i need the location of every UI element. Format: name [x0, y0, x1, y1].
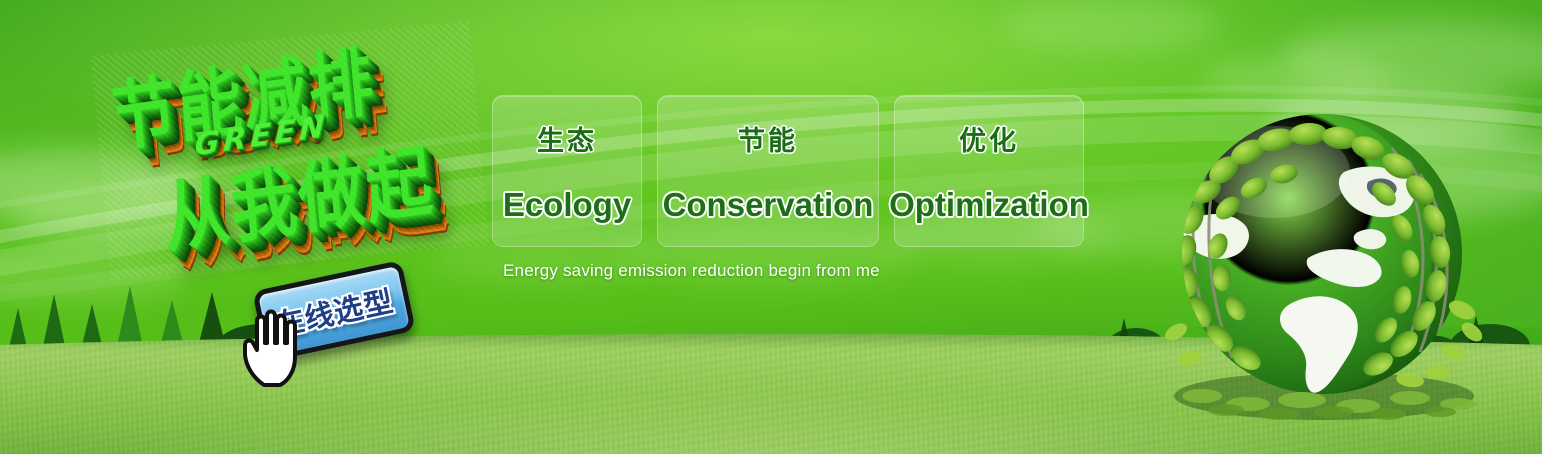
feature-card-cn-label: 节能: [738, 119, 798, 158]
feature-card-list: 生态 Ecology 节能 Conservation 优化 Optimizati…: [492, 95, 1084, 247]
feature-card-optimization[interactable]: 优化 Optimization: [894, 95, 1084, 247]
feature-card-cn-label: 生态: [537, 119, 597, 158]
feature-card-en-label: Conservation: [663, 186, 874, 224]
green-banner: 节能减排 GREEN 从我做起 在线选型 生态 Ecology 节能 Conse…: [0, 0, 1542, 454]
feature-card-conservation[interactable]: 节能 Conservation: [657, 95, 879, 247]
feature-card-en-label: Optimization: [889, 186, 1089, 224]
feature-card-en-label: Ecology: [503, 186, 631, 224]
leafy-earth-globe-icon: [1162, 96, 1482, 426]
feature-card-ecology[interactable]: 生态 Ecology: [492, 95, 642, 247]
tagline: Energy saving emission reduction begin f…: [503, 261, 880, 281]
feature-card-cn-label: 优化: [959, 119, 1019, 158]
headline-3d-logo: 节能减排 GREEN 从我做起: [91, 21, 490, 280]
